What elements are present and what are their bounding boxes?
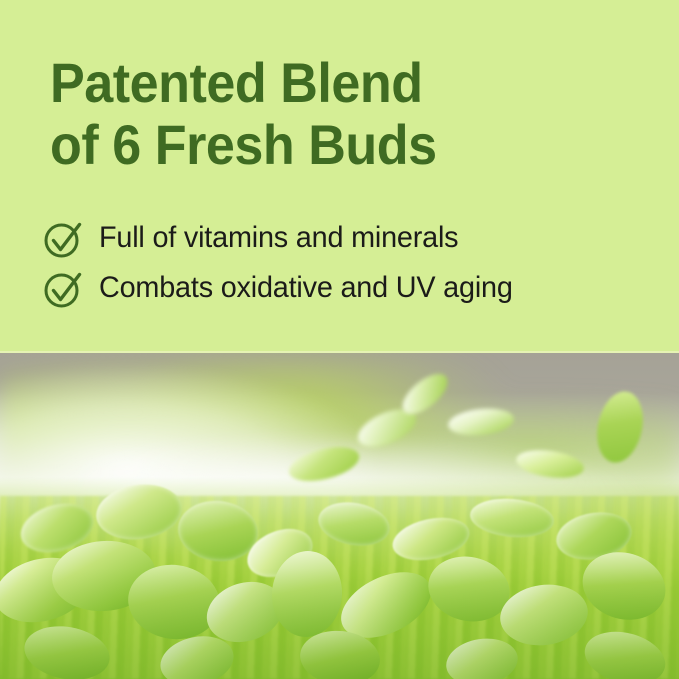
list-item-label: Combats oxidative and UV aging <box>99 268 513 308</box>
list-item: Combats oxidative and UV aging <box>42 264 662 314</box>
check-circle-icon <box>42 218 84 260</box>
check-circle-icon <box>42 268 84 310</box>
headline-panel: Patented Blend of 6 Fresh Buds Full of v… <box>0 0 679 353</box>
panel-divider <box>0 351 679 353</box>
product-feature-poster: Patented Blend of 6 Fresh Buds Full of v… <box>0 0 679 679</box>
benefits-list: Full of vitamins and minerals Combats ox… <box>42 214 662 314</box>
list-item-label: Full of vitamins and minerals <box>99 218 458 258</box>
list-item: Full of vitamins and minerals <box>42 214 662 264</box>
photo-bottom-shading <box>0 568 679 679</box>
sprouts-photo <box>0 353 679 679</box>
page-title: Patented Blend of 6 Fresh Buds <box>50 52 608 176</box>
